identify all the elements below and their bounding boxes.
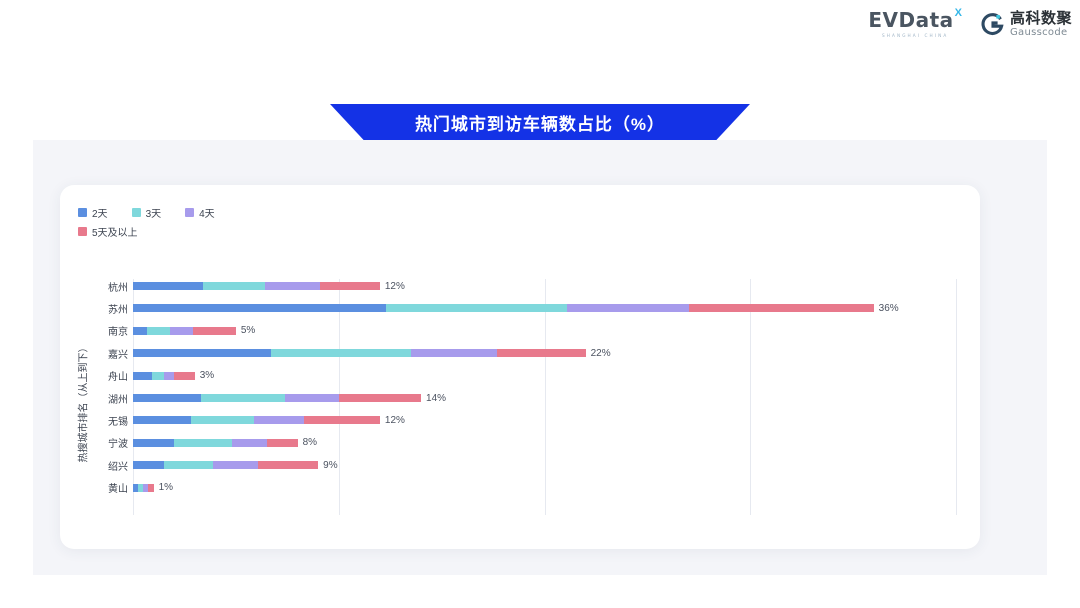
stacked-bar[interactable]: 3% <box>133 372 214 380</box>
stacked-bar[interactable]: 8% <box>133 439 317 447</box>
legend-swatch-icon <box>185 208 194 217</box>
bar-value-label: 14% <box>426 393 446 404</box>
bar-segment-3[interactable] <box>497 349 585 357</box>
bar-value-label: 9% <box>323 460 337 471</box>
bar-segment-3[interactable] <box>174 372 195 380</box>
bar-value-label: 36% <box>879 303 899 314</box>
evdata-wordmark: EVData X <box>868 10 962 30</box>
evdata-main-text: EVData <box>868 10 953 30</box>
stacked-bar[interactable]: 1% <box>133 484 173 492</box>
y-axis-label: 舟山 <box>76 368 133 383</box>
bar-row[interactable]: 苏州36% <box>76 297 956 319</box>
y-axis-label: 杭州 <box>76 279 133 294</box>
logo-bar: EVData X shanghai china 高科数聚 Gausscode <box>868 10 1072 38</box>
stacked-bar[interactable]: 9% <box>133 461 338 469</box>
bar-value-label: 3% <box>200 370 214 381</box>
bar-segment-2[interactable] <box>213 461 258 469</box>
legend-label: 4天 <box>199 205 215 220</box>
bar-segment-3[interactable] <box>258 461 318 469</box>
y-axis-label: 黄山 <box>76 480 133 495</box>
legend-swatch-icon <box>78 208 87 217</box>
bar-row[interactable]: 湖州14% <box>76 387 956 409</box>
evdata-logo: EVData X shanghai china <box>868 10 962 38</box>
bar-segment-0[interactable] <box>133 349 271 357</box>
bar-value-label: 8% <box>303 437 317 448</box>
bar-row[interactable]: 绍兴9% <box>76 454 956 476</box>
bar-segment-3[interactable] <box>339 394 421 402</box>
bar-segment-3[interactable] <box>193 327 236 335</box>
bar-row[interactable]: 嘉兴22% <box>76 342 956 364</box>
bar-segment-1[interactable] <box>152 372 164 380</box>
bar-segment-3[interactable] <box>304 416 380 424</box>
chart-bar-rows: 杭州12%苏州36%南京5%嘉兴22%舟山3%湖州14%无锡12%宁波8%绍兴9… <box>76 275 956 515</box>
stacked-bar[interactable]: 12% <box>133 416 405 424</box>
legend-item-3[interactable]: 5天及以上 <box>78 224 138 239</box>
bar-segment-0[interactable] <box>133 282 203 290</box>
stacked-bar[interactable]: 14% <box>133 394 446 402</box>
gausscode-mark-icon <box>980 12 1004 36</box>
bar-segment-0[interactable] <box>133 327 147 335</box>
y-axis-label: 苏州 <box>76 301 133 316</box>
bar-row[interactable]: 无锡12% <box>76 409 956 431</box>
bar-segment-1[interactable] <box>147 327 170 335</box>
bar-segment-2[interactable] <box>232 439 267 447</box>
bar-segment-3[interactable] <box>148 484 153 492</box>
evdata-x-icon: X <box>955 7 962 19</box>
legend-swatch-icon <box>132 208 141 217</box>
bar-segment-3[interactable] <box>689 304 874 312</box>
gausscode-text: 高科数聚 Gausscode <box>1010 11 1072 38</box>
bar-segment-1[interactable] <box>203 282 265 290</box>
bar-segment-0[interactable] <box>133 461 164 469</box>
bar-segment-1[interactable] <box>386 304 567 312</box>
bar-row[interactable]: 舟山3% <box>76 365 956 387</box>
gausscode-logo: 高科数聚 Gausscode <box>980 11 1072 38</box>
bar-value-label: 1% <box>159 482 173 493</box>
gausscode-cn-name: 高科数聚 <box>1010 11 1072 26</box>
chart-legend: 2天3天4天5天及以上 <box>78 205 378 243</box>
gausscode-en-name: Gausscode <box>1010 28 1072 38</box>
bar-segment-0[interactable] <box>133 439 174 447</box>
bar-value-label: 12% <box>385 415 405 426</box>
evdata-subtitle: shanghai china <box>882 33 948 38</box>
stacked-bar[interactable]: 12% <box>133 282 405 290</box>
bar-segment-2[interactable] <box>285 394 338 402</box>
y-axis-label: 无锡 <box>76 413 133 428</box>
legend-item-1[interactable]: 3天 <box>132 205 162 220</box>
stacked-bar[interactable]: 36% <box>133 304 899 312</box>
bar-segment-0[interactable] <box>133 394 201 402</box>
bar-segment-2[interactable] <box>254 416 303 424</box>
bar-row[interactable]: 杭州12% <box>76 275 956 297</box>
bar-value-label: 5% <box>241 325 255 336</box>
bar-row[interactable]: 黄山1% <box>76 477 956 499</box>
stacked-bar[interactable]: 5% <box>133 327 255 335</box>
y-axis-label: 嘉兴 <box>76 346 133 361</box>
bar-segment-2[interactable] <box>170 327 193 335</box>
slide-page: EVData X shanghai china 高科数聚 Gausscode 热… <box>0 0 1080 608</box>
gridline-40 <box>956 279 957 515</box>
stacked-bar[interactable]: 22% <box>133 349 611 357</box>
bar-segment-0[interactable] <box>133 372 152 380</box>
bar-row[interactable]: 宁波8% <box>76 432 956 454</box>
legend-label: 2天 <box>92 205 108 220</box>
bar-segment-1[interactable] <box>164 461 213 469</box>
y-axis-label: 绍兴 <box>76 458 133 473</box>
chart-title-banner: 热门城市到访车辆数占比（%） <box>330 104 750 140</box>
bar-segment-1[interactable] <box>191 416 255 424</box>
y-axis-label: 宁波 <box>76 435 133 450</box>
bar-segment-0[interactable] <box>133 416 191 424</box>
bar-segment-2[interactable] <box>411 349 497 357</box>
chart-plot-area: 热搜城市排名（从上到下） 杭州12%苏州36%南京5%嘉兴22%舟山3%湖州14… <box>76 275 956 515</box>
legend-label: 3天 <box>146 205 162 220</box>
bar-segment-1[interactable] <box>201 394 285 402</box>
bar-row[interactable]: 南京5% <box>76 320 956 342</box>
legend-label: 5天及以上 <box>92 224 138 239</box>
bar-value-label: 22% <box>591 348 611 359</box>
bar-segment-2[interactable] <box>265 282 321 290</box>
bar-value-label: 12% <box>385 281 405 292</box>
bar-segment-1[interactable] <box>271 349 411 357</box>
legend-item-0[interactable]: 2天 <box>78 205 108 220</box>
legend-swatch-icon <box>78 227 87 236</box>
bar-segment-2[interactable] <box>567 304 688 312</box>
y-axis-label: 湖州 <box>76 391 133 406</box>
bar-segment-3[interactable] <box>267 439 298 447</box>
legend-item-2[interactable]: 4天 <box>185 205 215 220</box>
bar-segment-2[interactable] <box>164 372 174 380</box>
bar-segment-3[interactable] <box>320 282 380 290</box>
y-axis-label: 南京 <box>76 323 133 338</box>
bar-segment-0[interactable] <box>133 304 386 312</box>
page-title: 热门城市到访车辆数占比（%） <box>415 110 665 135</box>
bar-segment-1[interactable] <box>174 439 232 447</box>
